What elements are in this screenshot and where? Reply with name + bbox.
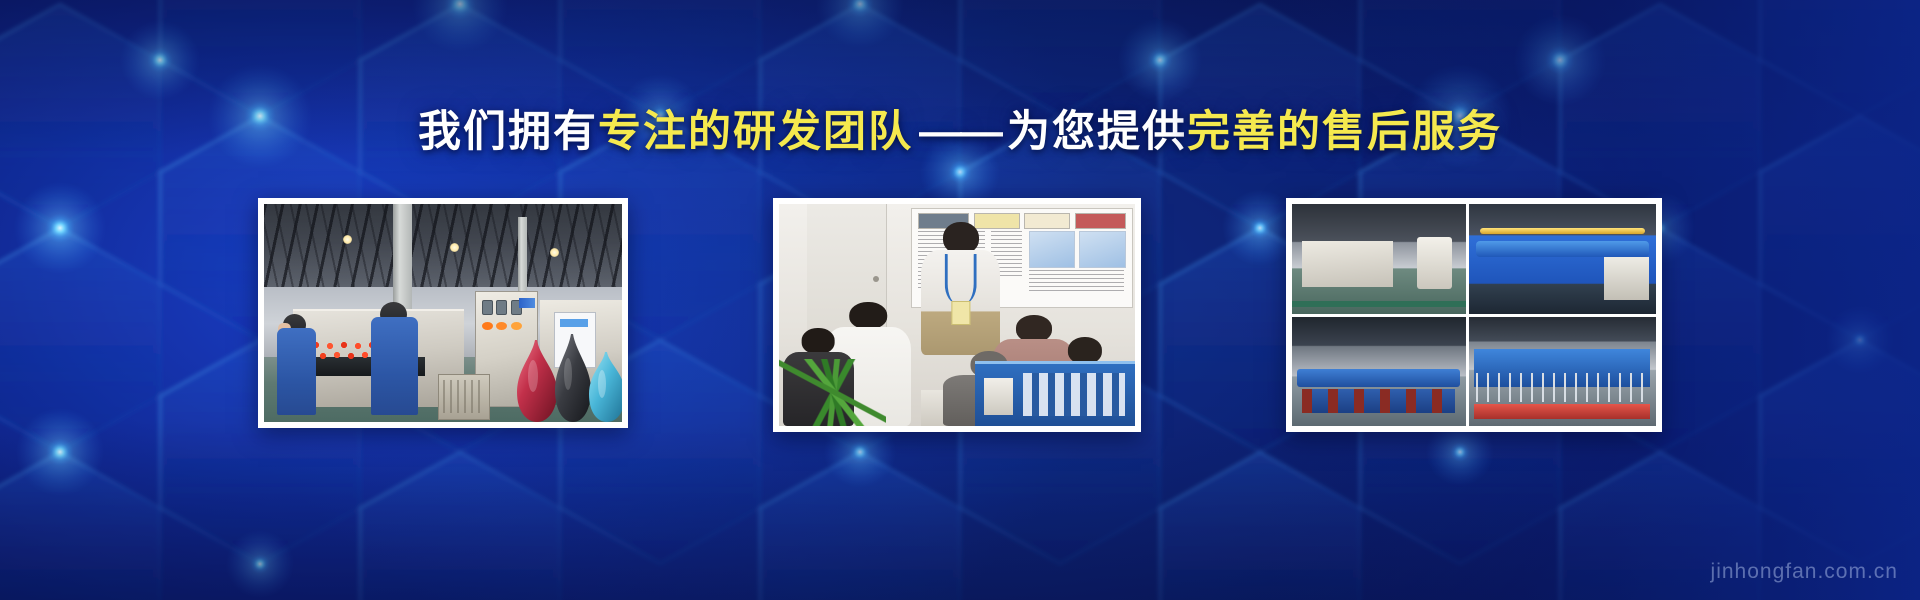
headline-part-1: 我们拥有 xyxy=(418,108,598,156)
collage-cell-duct xyxy=(1469,204,1656,314)
vase-products-overlay xyxy=(499,330,622,422)
headline-dash: —— xyxy=(913,108,1007,156)
headline-part-2: 专注的研发团队 xyxy=(598,108,913,156)
site-watermark: jinhongfan.com.cn xyxy=(1711,560,1898,584)
photo-card-equipment-collage[interactable] xyxy=(1286,198,1662,432)
collage-cell-oven xyxy=(1292,204,1466,314)
photo-card-team-meeting[interactable] xyxy=(773,198,1141,432)
promo-banner: 我们拥有专注的研发团队——为您提供完善的售后服务 xyxy=(0,0,1920,600)
banner-headline: 我们拥有专注的研发团队——为您提供完善的售后服务 xyxy=(0,107,1920,159)
headline-part-3: 为您提供 xyxy=(1007,108,1187,156)
photo-equipment-collage xyxy=(1292,204,1656,426)
photo-gallery xyxy=(0,182,1920,414)
collage-cell-hanger-line xyxy=(1469,317,1656,427)
headline-part-4: 完善的售后服务 xyxy=(1187,108,1502,156)
collage-cell-conveyor xyxy=(1292,317,1466,427)
photo-card-production-line[interactable] xyxy=(258,198,628,428)
photo-production-line xyxy=(264,204,622,422)
photo-team-meeting xyxy=(779,204,1135,426)
